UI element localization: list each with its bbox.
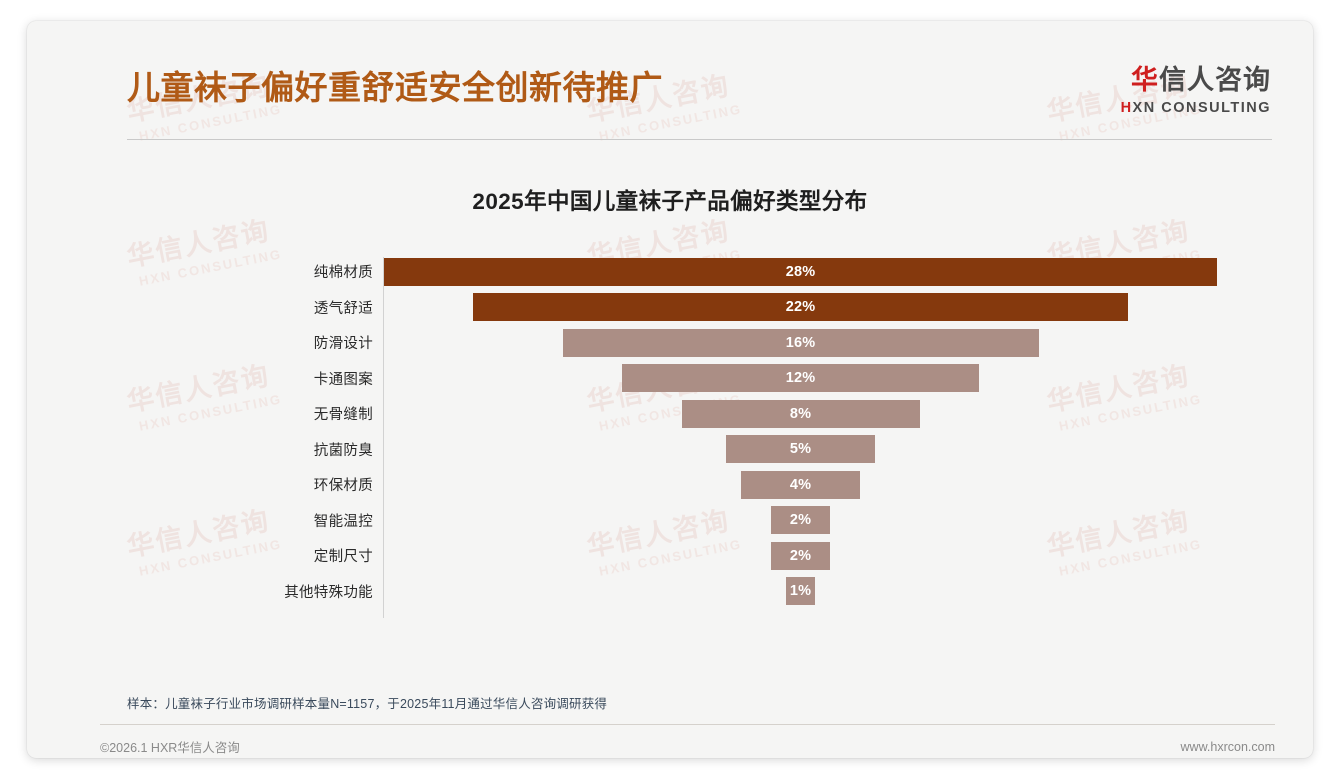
bar-track: 2%	[384, 538, 1217, 574]
chart-bar[interactable]: 12%	[622, 364, 979, 392]
category-label: 纯棉材质	[105, 261, 373, 282]
logo-en-rest: XN CONSULTING	[1133, 100, 1271, 116]
page-title: 儿童袜子偏好重舒适安全创新待推广	[127, 61, 663, 109]
header-divider	[127, 139, 1272, 140]
bar-value-label: 2%	[790, 512, 811, 528]
chart-bar-row: 其他特殊功能1%	[105, 574, 1235, 610]
bar-track: 4%	[384, 467, 1217, 503]
company-logo: 华信人咨询 HXN CONSULTING	[1121, 67, 1271, 116]
footer-divider	[100, 724, 1275, 725]
bar-track: 2%	[384, 503, 1217, 539]
chart-bar[interactable]: 4%	[741, 471, 860, 499]
bar-value-label: 8%	[790, 406, 811, 422]
bar-value-label: 4%	[790, 477, 811, 493]
chart-bar-row: 防滑设计16%	[105, 325, 1235, 361]
category-label: 防滑设计	[105, 332, 373, 353]
chart-bar[interactable]: 16%	[563, 329, 1039, 357]
bar-track: 8%	[384, 396, 1217, 432]
bar-value-label: 22%	[786, 299, 816, 315]
bar-track: 22%	[384, 290, 1217, 326]
logo-h-char: H	[1121, 100, 1133, 116]
chart-bar[interactable]: 2%	[771, 542, 831, 570]
chart-bar-row: 纯棉材质28%	[105, 254, 1235, 290]
logo-hua-char: 华	[1131, 65, 1159, 95]
category-label: 透气舒适	[105, 297, 373, 318]
chart-bar[interactable]: 22%	[473, 293, 1128, 321]
bar-track: 12%	[384, 361, 1217, 397]
chart-bar[interactable]: 28%	[384, 258, 1217, 286]
logo-english-text: HXN CONSULTING	[1121, 101, 1271, 116]
category-label: 无骨缝制	[105, 403, 373, 424]
logo-cn-rest: 信人咨询	[1159, 65, 1271, 95]
chart-title: 2025年中国儿童袜子产品偏好类型分布	[27, 184, 1313, 216]
chart-bar[interactable]: 2%	[771, 506, 831, 534]
bar-value-label: 28%	[786, 264, 816, 280]
logo-chinese-text: 华信人咨询	[1121, 67, 1271, 94]
category-label: 定制尺寸	[105, 545, 373, 566]
slide-canvas: 华信人咨询HXN CONSULTING华信人咨询HXN CONSULTING华信…	[27, 21, 1313, 758]
bar-rows-container: 纯棉材质28%透气舒适22%防滑设计16%卡通图案12%无骨缝制8%抗菌防臭5%…	[105, 254, 1235, 609]
bar-value-label: 2%	[790, 548, 811, 564]
bar-track: 16%	[384, 325, 1217, 361]
chart-bar[interactable]: 5%	[726, 435, 875, 463]
chart-bar[interactable]: 1%	[786, 577, 816, 605]
bar-value-label: 1%	[790, 583, 811, 599]
chart-bar-row: 卡通图案12%	[105, 361, 1235, 397]
slide-footer: ©2026.1 HXR华信人咨询 www.hxrcon.com	[100, 737, 1275, 756]
bar-value-label: 5%	[790, 441, 811, 457]
chart-bar-row: 环保材质4%	[105, 467, 1235, 503]
chart-area: 2025年中国儿童袜子产品偏好类型分布 纯棉材质28%透气舒适22%防滑设计16…	[27, 146, 1313, 676]
bar-value-label: 12%	[786, 370, 816, 386]
chart-bar-row: 定制尺寸2%	[105, 538, 1235, 574]
chart-bar-row: 无骨缝制8%	[105, 396, 1235, 432]
bar-value-label: 16%	[786, 335, 816, 351]
category-label: 智能温控	[105, 510, 373, 531]
bar-track: 5%	[384, 432, 1217, 468]
category-label: 卡通图案	[105, 368, 373, 389]
category-label: 环保材质	[105, 474, 373, 495]
website-url[interactable]: www.hxrcon.com	[1181, 740, 1275, 754]
source-footnote: 样本：儿童袜子行业市场调研样本量N=1157，于2025年11月通过华信人咨询调…	[127, 693, 1272, 712]
chart-bar[interactable]: 8%	[682, 400, 920, 428]
bar-track: 28%	[384, 254, 1217, 290]
funnel-bar-chart: 纯棉材质28%透气舒适22%防滑设计16%卡通图案12%无骨缝制8%抗菌防臭5%…	[105, 254, 1235, 622]
slide-header: 儿童袜子偏好重舒适安全创新待推广 华信人咨询 HXN CONSULTING	[27, 21, 1313, 139]
category-label: 其他特殊功能	[105, 581, 373, 602]
category-label: 抗菌防臭	[105, 439, 373, 460]
chart-bar-row: 透气舒适22%	[105, 290, 1235, 326]
chart-bar-row: 智能温控2%	[105, 503, 1235, 539]
bar-track: 1%	[384, 574, 1217, 610]
chart-bar-row: 抗菌防臭5%	[105, 432, 1235, 468]
copyright-text: ©2026.1 HXR华信人咨询	[100, 737, 240, 756]
